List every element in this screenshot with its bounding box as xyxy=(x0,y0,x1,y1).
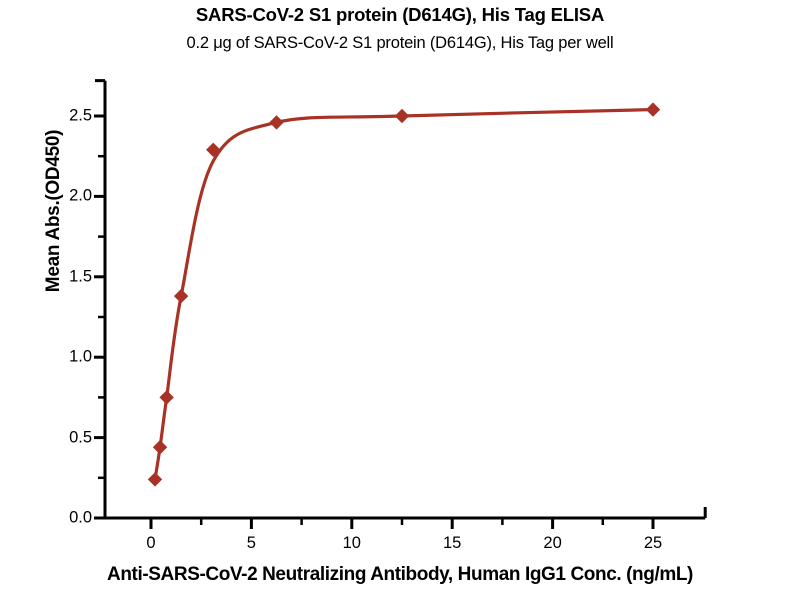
y-tick-label: 1.0 xyxy=(46,348,92,367)
y-tick-label: 2.0 xyxy=(46,187,92,206)
data-point-marker xyxy=(646,102,660,116)
data-point-marker xyxy=(159,390,173,404)
data-point-marker xyxy=(153,440,167,454)
y-tick-label: 0.5 xyxy=(46,428,92,447)
series-markers xyxy=(148,102,660,486)
chart-figure: SARS-CoV-2 S1 protein (D614G), His Tag E… xyxy=(0,0,800,600)
data-point-marker xyxy=(395,109,409,123)
data-point-marker xyxy=(269,115,283,129)
series-line xyxy=(155,110,653,480)
data-point-marker xyxy=(148,472,162,486)
x-tick-label: 25 xyxy=(644,534,662,553)
x-tick-label: 10 xyxy=(343,534,361,553)
plot-area xyxy=(0,0,800,600)
x-tick-label: 15 xyxy=(443,534,461,553)
x-tick-label: 0 xyxy=(146,534,155,553)
y-tick-label: 0.0 xyxy=(46,509,92,528)
y-tick-label: 1.5 xyxy=(46,267,92,286)
data-point-marker xyxy=(174,289,188,303)
y-tick-label: 2.5 xyxy=(46,107,92,126)
x-tick-label: 20 xyxy=(543,534,561,553)
x-tick-label: 5 xyxy=(247,534,256,553)
axis-lines xyxy=(95,81,705,518)
